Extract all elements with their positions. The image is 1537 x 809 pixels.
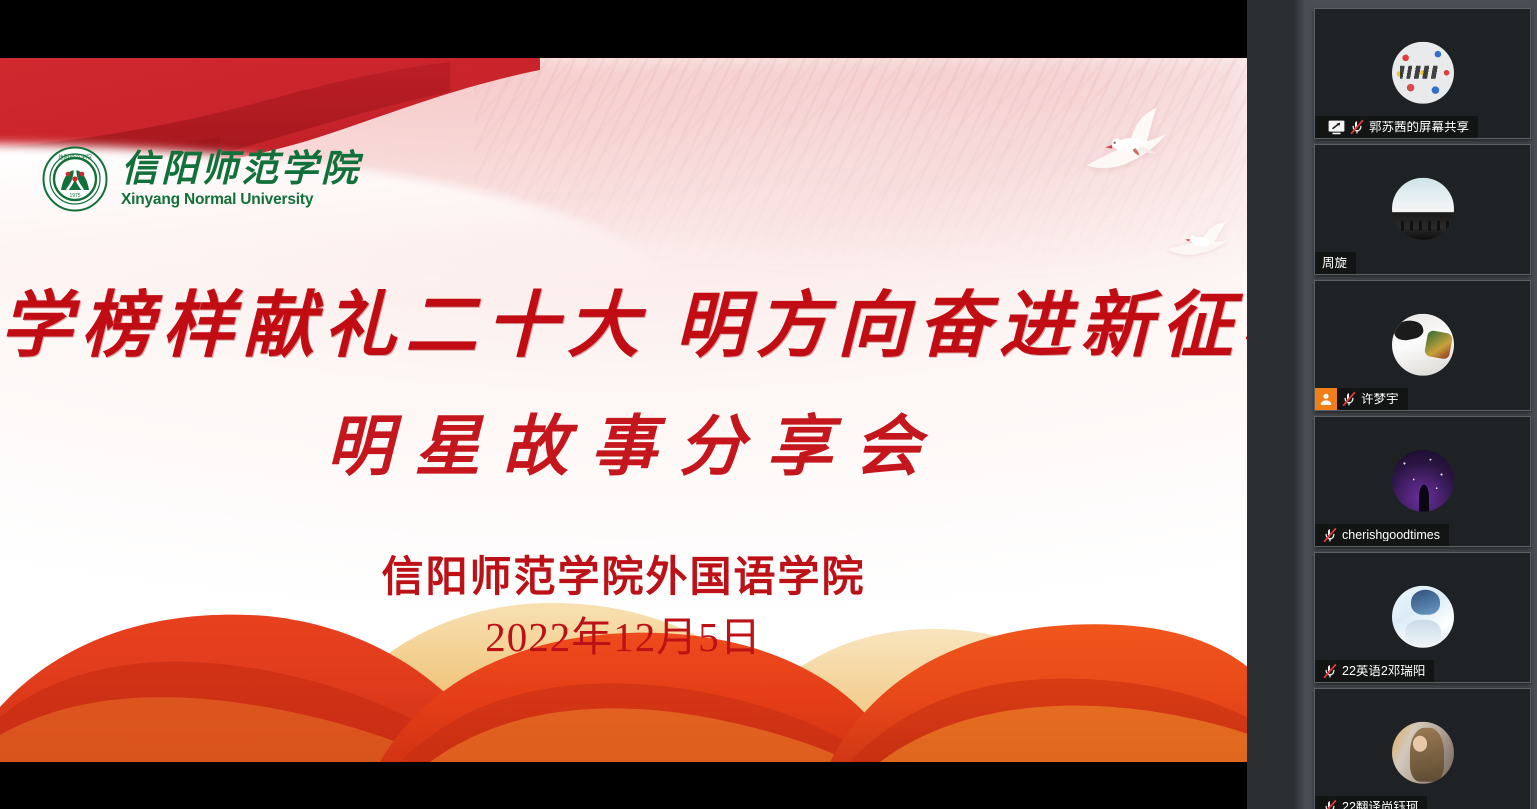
avatar [1392,177,1454,239]
host-person-icon [1315,388,1337,410]
logo-chinese-name: 信阳师范学院 [121,151,361,188]
avatar [1392,313,1454,375]
participant-tile[interactable]: 许梦宇 [1314,280,1531,411]
piano-photo-avatar [1392,177,1454,239]
white-cat-avatar [1392,313,1454,375]
presentation-slide: 1975 信阳师范学院 信阳师范学院 Xinyang Normal Univer… [0,58,1247,762]
svg-text:1975: 1975 [69,193,80,199]
participant-label: cherishgoodtimes [1315,524,1449,546]
participant-label: 22英语2邓瑞阳 [1315,660,1434,682]
participant-label: 22翻译尚钰珂 [1315,796,1427,809]
avatar [1392,585,1454,647]
logo-english-name: Xinyang Normal University [121,192,361,208]
university-logo: 1975 信阳师范学院 信阳师范学院 Xinyang Normal Univer… [42,146,361,212]
market-planet-doodle-avatar [1392,41,1454,103]
girl-photo-avatar [1392,721,1454,783]
avatar [1392,721,1454,783]
meeting-window: 1975 信阳师范学院 信阳师范学院 Xinyang Normal Univer… [0,0,1537,809]
participant-tile[interactable]: 22翻译尚钰珂 [1314,688,1531,809]
participant-tile[interactable]: 周旋 [1314,144,1531,275]
microphone-muted-icon[interactable] [1322,799,1338,809]
anime-character-avatar [1392,585,1454,647]
participant-label: 郭苏茜的屏幕共享 [1315,116,1478,138]
participant-tile[interactable]: cherishgoodtimes [1314,416,1531,547]
participant-name: 郭苏茜的屏幕共享 [1369,121,1469,134]
avatar [1392,41,1454,103]
microphone-muted-icon[interactable] [1322,527,1338,543]
microphone-muted-icon[interactable] [1349,119,1365,135]
participant-label: 许梦宇 [1315,388,1408,410]
avatar [1392,449,1454,511]
svg-text:信阳师范学院: 信阳师范学院 [58,153,92,161]
participant-name: 22翻译尚钰珂 [1342,801,1418,809]
screen-share-icon [1322,120,1345,135]
participant-filmstrip[interactable]: 郭苏茜的屏幕共享周旋许梦宇cherishgoodtimes22英语2邓瑞阳22翻… [1306,0,1537,809]
slide-date: 2022年12月5日 [0,603,1247,663]
participant-name: 周旋 [1322,257,1347,270]
dove-icon [1158,214,1242,272]
dove-icon [1065,101,1193,189]
slide-organization: 信阳师范学院外国语学院 [0,543,1247,604]
participant-label: 周旋 [1315,252,1356,274]
participant-name: 许梦宇 [1361,393,1399,406]
participant-tile[interactable]: 郭苏茜的屏幕共享 [1314,8,1531,139]
purple-galaxy-silhouette-avatar [1392,449,1454,511]
stage-filmstrip-gap [1247,0,1306,809]
slide-sub-title: 明星故事分享会 [0,393,1247,489]
slide-main-title: 学榜样献礼二十大 明方向奋进新征程 [0,266,1247,371]
participant-name: 22英语2邓瑞阳 [1342,665,1425,678]
participant-name: cherishgoodtimes [1342,529,1440,542]
microphone-muted-icon[interactable] [1341,391,1357,407]
participant-tile[interactable]: 22英语2邓瑞阳 [1314,552,1531,683]
filmstrip-edge-shade [1294,0,1306,809]
university-seal-icon: 1975 信阳师范学院 [42,146,108,212]
microphone-muted-icon[interactable] [1322,663,1338,679]
shared-screen-stage[interactable]: 1975 信阳师范学院 信阳师范学院 Xinyang Normal Univer… [0,0,1247,809]
